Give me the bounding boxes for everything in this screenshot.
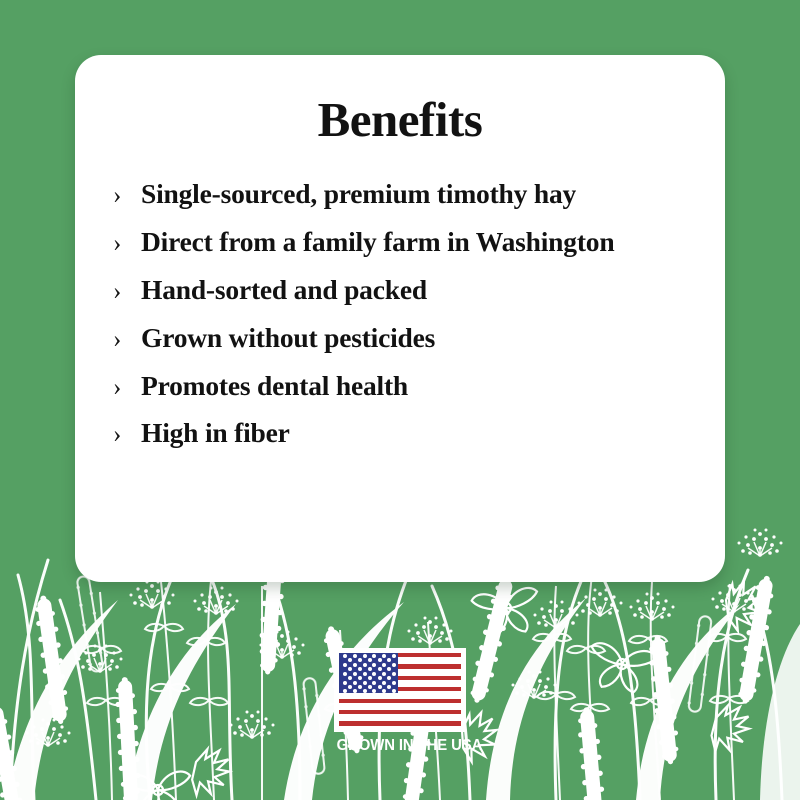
flag-star [343,654,347,658]
chevron-right-icon: › [113,422,141,447]
flag-star [372,654,376,658]
flag-star [358,667,362,671]
flag-star [378,667,382,671]
benefit-label: Promotes dental health [141,372,408,401]
flag-star [378,676,382,680]
flag-star [348,685,352,689]
flag-star [387,685,391,689]
flag-star [363,689,367,692]
chevron-right-icon: › [113,279,141,304]
flag-star [353,654,357,658]
product-benefits-graphic: Benefits › Single-sourced, premium timot… [0,0,800,800]
flag-canton [339,653,398,693]
flag-star [382,663,386,667]
page-title: Benefits [75,55,725,144]
list-item: › High in fiber [113,419,725,448]
benefits-list: › Single-sourced, premium timothy hay › … [75,144,725,448]
badge-caption: GROWN IN THE USA [337,737,464,755]
flag-star [348,676,352,680]
flag-star [343,681,347,685]
flag-star [392,689,396,692]
flag-star [382,689,386,692]
flag-star [382,681,386,685]
flag-star [343,663,347,667]
list-item: › Single-sourced, premium timothy hay [113,180,725,209]
benefits-card: Benefits › Single-sourced, premium timot… [75,55,725,582]
flag-stripe [339,721,461,725]
benefit-label: Single-sourced, premium timothy hay [141,180,576,209]
list-item: › Hand-sorted and packed [113,276,725,305]
flag-star [392,654,396,658]
flag-star [363,681,367,685]
usa-flag-icon [334,648,466,732]
flag-star [378,685,382,689]
flag-star [372,689,376,692]
flag-star [382,672,386,676]
list-item: › Promotes dental health [113,372,725,401]
flag-star [387,676,391,680]
flag-star [358,658,362,662]
flag-star [392,672,396,676]
flag-star [358,676,362,680]
flag-star [387,658,391,662]
flag-star [372,681,376,685]
flag-star [372,663,376,667]
benefit-label: Direct from a family farm in Washington [141,228,614,257]
flag-star [368,685,372,689]
flag-star [378,658,382,662]
flag-star [368,658,372,662]
flag-star [372,672,376,676]
flag-star [363,672,367,676]
flag-star [348,667,352,671]
flag-star [353,681,357,685]
flag-star [392,681,396,685]
flag-star [348,658,352,662]
flag-star [387,667,391,671]
flag-star [363,654,367,658]
flag-star [343,689,347,692]
flag-star [368,667,372,671]
flag-star [358,685,362,689]
chevron-right-icon: › [113,231,141,256]
flag-stripe [339,699,461,703]
flag-star [353,689,357,692]
flag-star [353,663,357,667]
chevron-right-icon: › [113,375,141,400]
chevron-right-icon: › [113,183,141,208]
flag-star [382,654,386,658]
benefit-label: Hand-sorted and packed [141,276,427,305]
flag-stripe [339,710,461,714]
flag-star [392,663,396,667]
flag-star [368,676,372,680]
benefit-label: Grown without pesticides [141,324,435,353]
flag-star [363,663,367,667]
flag-star [343,672,347,676]
flag-star [353,672,357,676]
grown-in-usa-badge: GROWN IN THE USA [334,648,466,755]
list-item: › Grown without pesticides [113,324,725,353]
chevron-right-icon: › [113,327,141,352]
list-item: › Direct from a family farm in Washingto… [113,228,725,257]
benefit-label: High in fiber [141,419,290,448]
